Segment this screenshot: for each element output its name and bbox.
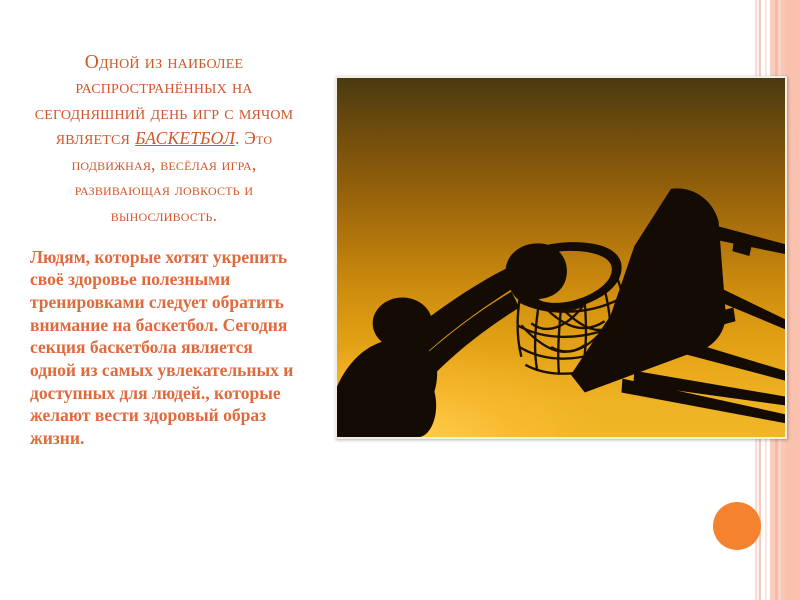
keyword-basketball: БАСКЕТБОЛ [135, 128, 235, 148]
paragraph-intro: Одной из наиболее распространённых на се… [28, 50, 300, 229]
paragraph-body: Людям, которые хотят укрепить своё здоро… [30, 246, 298, 450]
presentation-slide: Одной из наиболее распространённых на се… [0, 0, 800, 600]
basketball-dunk-silhouette-photo [337, 78, 785, 437]
photo-frame [335, 76, 787, 439]
photo-silhouette-artwork [337, 78, 785, 437]
orange-ellipse-decoration [713, 502, 761, 550]
text-column: Одной из наиболее распространённых на се… [0, 0, 330, 600]
